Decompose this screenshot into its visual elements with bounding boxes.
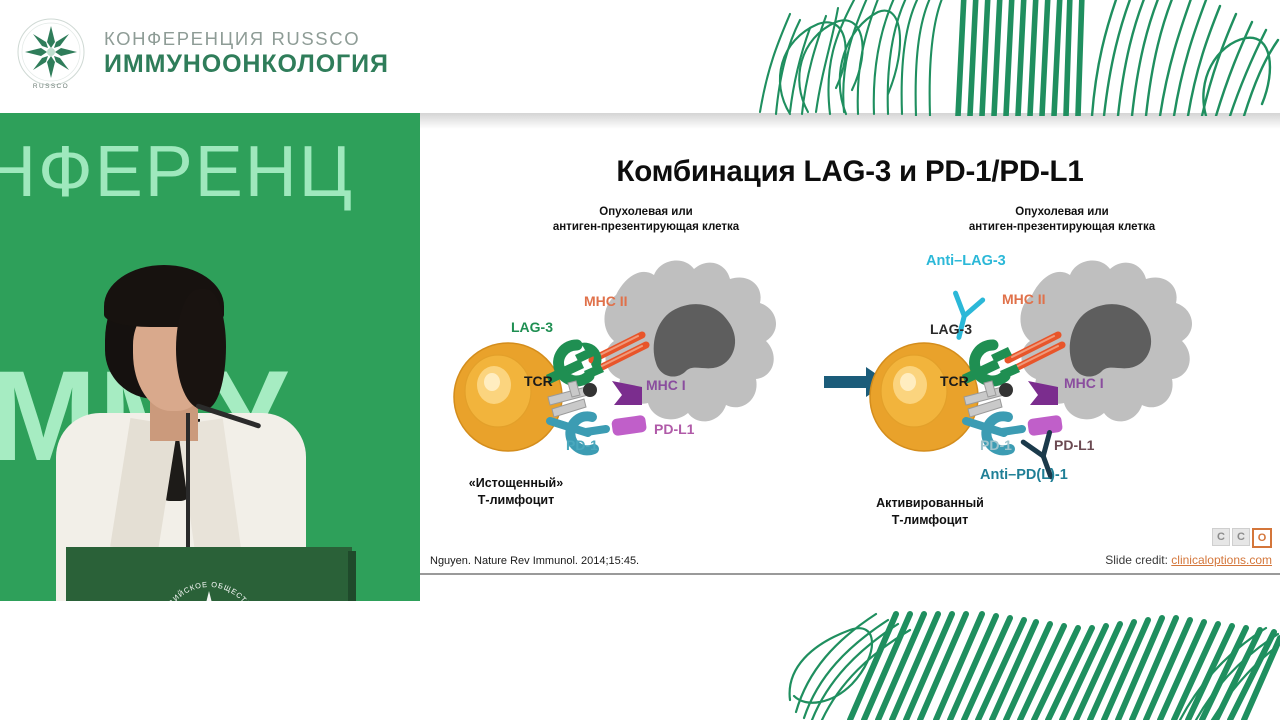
speaker-video-panel[interactable]: НФЕРЕНЦ ММУ	[0, 113, 420, 601]
label-mhc1-right: MHC I	[1064, 375, 1104, 391]
left-cell-caption: Опухолевая или антиген-презентирующая кл…	[436, 205, 856, 235]
decorative-scribble-bottom	[700, 600, 1280, 720]
svg-text:RUSSCO: RUSSCO	[33, 83, 69, 90]
left-tcell-caption: «Истощенный» Т-лимфоцит	[420, 475, 726, 509]
diagram-right-activated: Опухолевая или антиген-презентирующая кл…	[852, 205, 1272, 535]
label-mhc2-right: MHC II	[1002, 291, 1046, 307]
backdrop-text-1: НФЕРЕНЦ	[0, 131, 354, 213]
cco-box-1: C	[1212, 528, 1230, 546]
label-mhc1-left: MHC I	[646, 377, 686, 393]
right-tcell-caption: Активированный Т-лимфоцит	[720, 495, 1140, 529]
slide-credit-prefix: Slide credit:	[1105, 553, 1171, 567]
slide-credit: Slide credit: clinicaloptions.com	[1105, 553, 1272, 567]
podium-edge	[348, 551, 356, 601]
right-cell-caption-line1: Опухолевая или	[1015, 206, 1109, 218]
left-cell-caption-line1: Опухолевая или	[599, 206, 693, 218]
decorative-scribble-top	[640, 0, 1280, 116]
cco-box-3: O	[1252, 528, 1272, 548]
microphone-stand	[186, 413, 190, 549]
russco-star-logo-icon: RUSSCO	[12, 8, 90, 98]
left-tcell-caption-line2: Т-лимфоцит	[478, 493, 554, 507]
label-lag3-left: LAG-3	[511, 319, 553, 335]
left-cell-caption-line2: антиген-презентирующая клетка	[553, 221, 739, 233]
label-mhc2-left: MHC II	[584, 293, 628, 309]
label-anti-pdl1: Anti–PD(L)-1	[980, 467, 1068, 483]
cco-box-2: C	[1232, 528, 1250, 546]
brand-line-1: КОНФЕРЕНЦИЯ RUSSCO	[104, 29, 389, 48]
label-pdl1-left: PD-L1	[654, 421, 694, 437]
left-diagram-graphic	[436, 239, 856, 509]
brand-block: RUSSCO КОНФЕРЕНЦИЯ RUSSCO ИММУНООНКОЛОГИ…	[12, 8, 389, 98]
footer-divider	[420, 573, 1280, 575]
speaker-hair-right	[176, 289, 226, 409]
page-header: RUSSCO КОНФЕРЕНЦИЯ RUSSCO ИММУНООНКОЛОГИ…	[0, 0, 1280, 112]
label-pd1-right: PD-1	[980, 437, 1012, 453]
right-tcell-caption-line1: Активированный	[876, 496, 984, 510]
presentation-slide: Комбинация LAG-3 и PD-1/PD-L1 Опухолевая…	[420, 113, 1280, 601]
cco-logo-icon: C C O	[1212, 528, 1272, 548]
diagram-left-exhausted: Опухолевая или антиген-презентирующая кл…	[436, 205, 856, 535]
svg-text:РОССИЙСКОЕ ОБЩЕСТВО КЛИНИЧЕСКО: РОССИЙСКОЕ ОБЩЕСТВО КЛИНИЧЕСКОЙ ОНКОЛОГИ…	[148, 571, 261, 601]
label-tcr-right: TCR	[940, 373, 969, 389]
slide-title: Комбинация LAG-3 и PD-1/PD-L1	[420, 155, 1280, 189]
label-anti-lag3: Anti–LAG-3	[926, 253, 1006, 269]
clinicaloptions-link[interactable]: clinicaloptions.com	[1171, 553, 1272, 567]
right-cell-caption-line2: антиген-презентирующая клетка	[969, 221, 1155, 233]
brand-line-2: ИММУНООНКОЛОГИЯ	[104, 51, 389, 77]
label-lag3-right: LAG-3	[930, 321, 972, 337]
label-tcr-left: TCR	[524, 373, 553, 389]
right-cell-caption: Опухолевая или антиген-презентирующая кл…	[852, 205, 1272, 235]
podium-russco-logo-icon: РОССИЙСКОЕ ОБЩЕСТВО КЛИНИЧЕСКОЙ ОНКОЛОГИ…	[148, 571, 270, 601]
right-tcell-caption-line2: Т-лимфоцит	[892, 513, 968, 527]
label-pdl1-right: PD-L1	[1054, 437, 1094, 453]
label-pd1-left: PD-1	[566, 437, 598, 453]
left-tcell-caption-line1: «Истощенный»	[469, 476, 563, 490]
slide-citation: Nguyen. Nature Rev Immunol. 2014;15:45.	[430, 555, 639, 567]
